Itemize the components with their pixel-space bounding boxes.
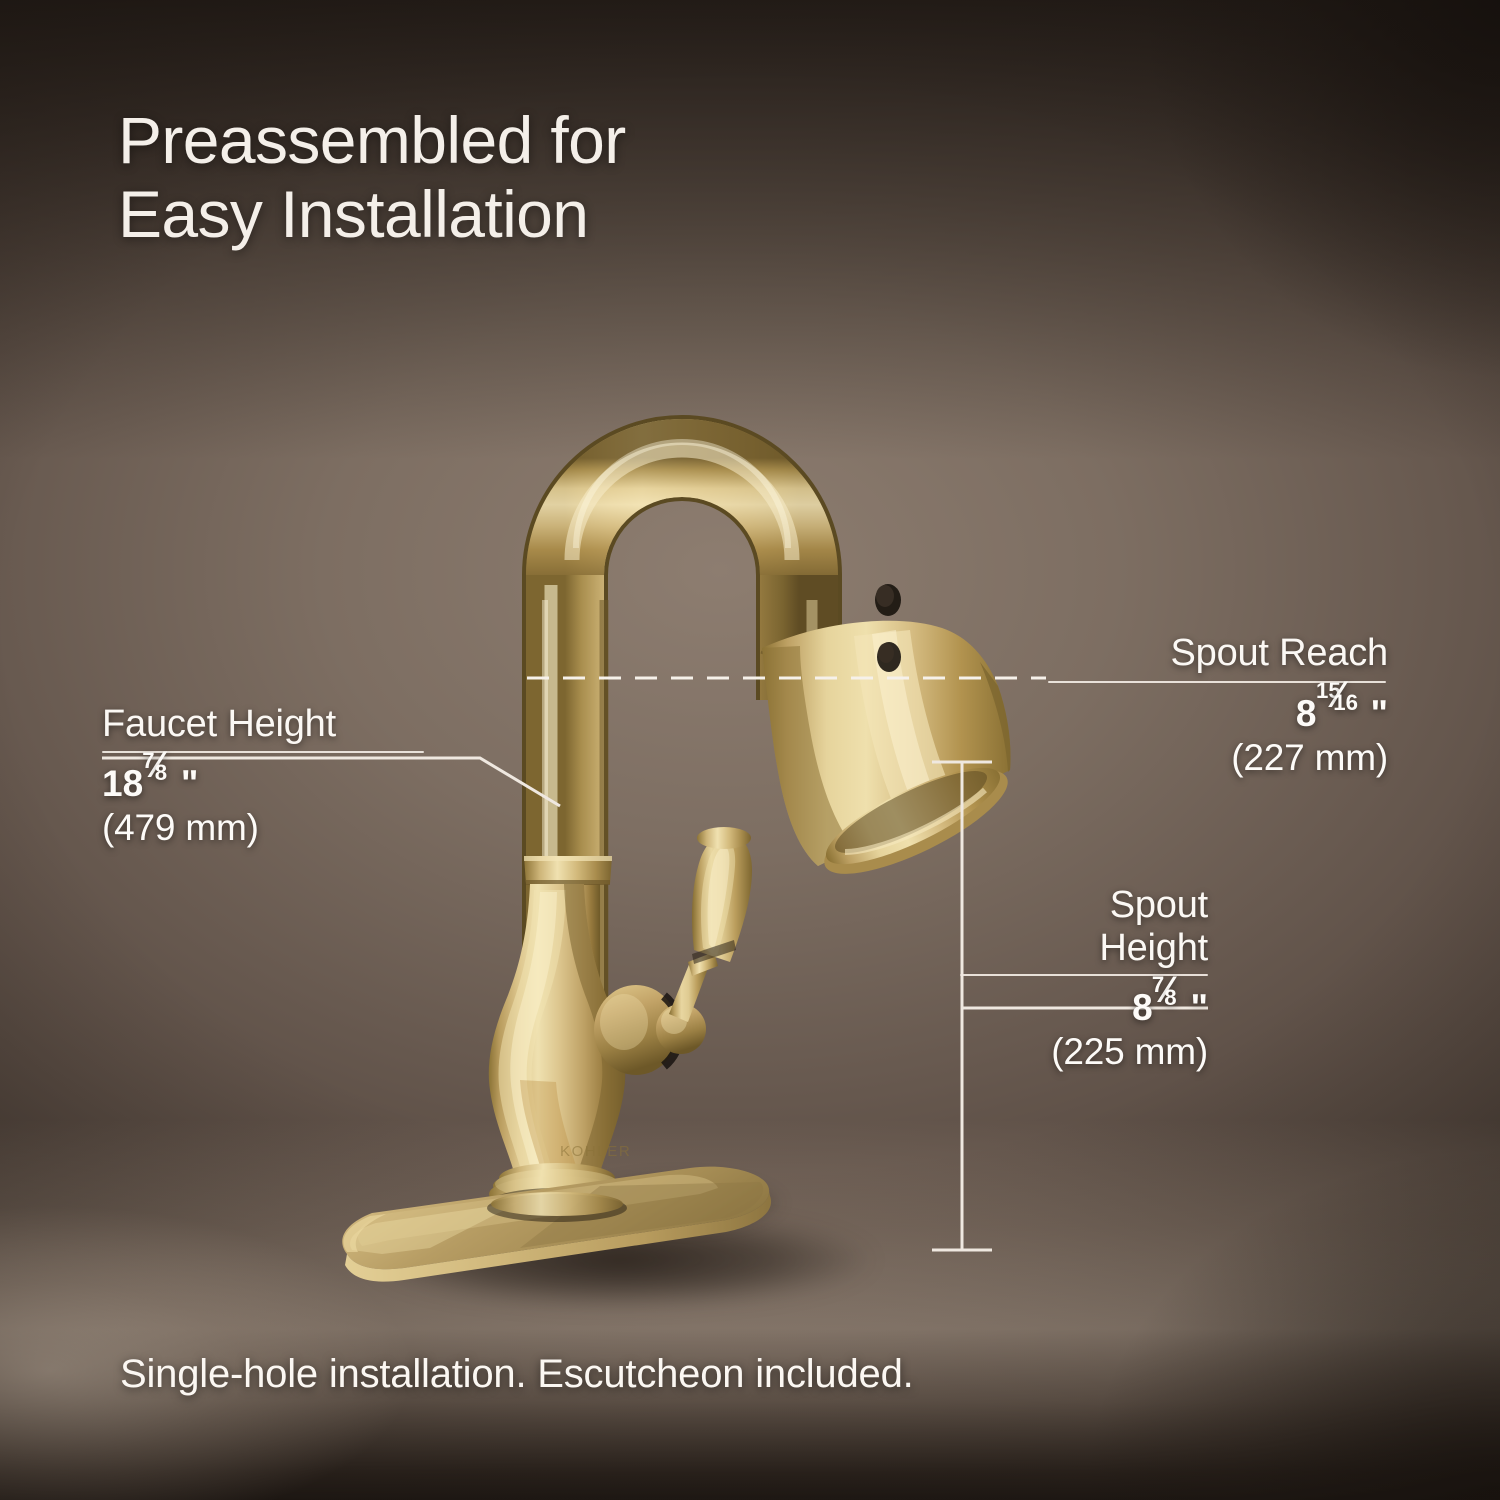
headline-line-1: Preassembled for bbox=[118, 104, 878, 178]
spout-height-rule bbox=[960, 974, 1208, 976]
dimension-spout-reach: Spout Reach 815⁄16" (227 mm) bbox=[1048, 632, 1388, 780]
spout-height-unit: " bbox=[1190, 987, 1208, 1028]
spout-height-label-line-1: Spout bbox=[960, 884, 1208, 927]
spout-reach-metric: (227 mm) bbox=[1048, 736, 1388, 780]
installation-caption: Single-hole installation. Escutcheon inc… bbox=[120, 1352, 914, 1397]
faucet-height-numerator: 7 bbox=[142, 750, 154, 772]
faucet-height-metric: (479 mm) bbox=[102, 806, 422, 850]
dimension-faucet-height: Faucet Height 187⁄8" (479 mm) bbox=[102, 703, 422, 850]
spout-height-whole: 8 bbox=[1132, 987, 1153, 1028]
faucet-height-denominator: 8 bbox=[155, 762, 167, 784]
faucet-height-label: Faucet Height bbox=[102, 703, 422, 746]
dimension-spout-height: Spout Height 87⁄8" (225 mm) bbox=[960, 884, 1208, 1075]
faucet-height-value: 187⁄8" bbox=[102, 759, 422, 806]
faucet-handle bbox=[594, 827, 752, 1075]
spout-reach-label: Spout Reach bbox=[1048, 632, 1388, 675]
product-infographic: KOHLER bbox=[0, 0, 1500, 1500]
spout-reach-whole: 8 bbox=[1296, 693, 1317, 734]
faucet-height-whole: 18 bbox=[102, 763, 143, 804]
spout-reach-unit: " bbox=[1370, 693, 1388, 734]
spout-height-denominator: 8 bbox=[1164, 987, 1176, 1009]
spout-height-label-line-2: Height bbox=[960, 927, 1208, 970]
faucet-height-unit: " bbox=[181, 763, 199, 804]
kohler-wordmark: KOHLER bbox=[560, 1143, 631, 1160]
headline-line-2: Easy Installation bbox=[118, 178, 878, 252]
spout-height-numerator: 7 bbox=[1152, 974, 1164, 996]
spout-height-value: 87⁄8" bbox=[960, 983, 1208, 1030]
spout-reach-value: 815⁄16" bbox=[1048, 689, 1388, 736]
spout-height-metric: (225 mm) bbox=[960, 1030, 1208, 1074]
spout-reach-denominator: 16 bbox=[1333, 692, 1358, 714]
headline: Preassembled for Easy Installation bbox=[118, 104, 878, 252]
